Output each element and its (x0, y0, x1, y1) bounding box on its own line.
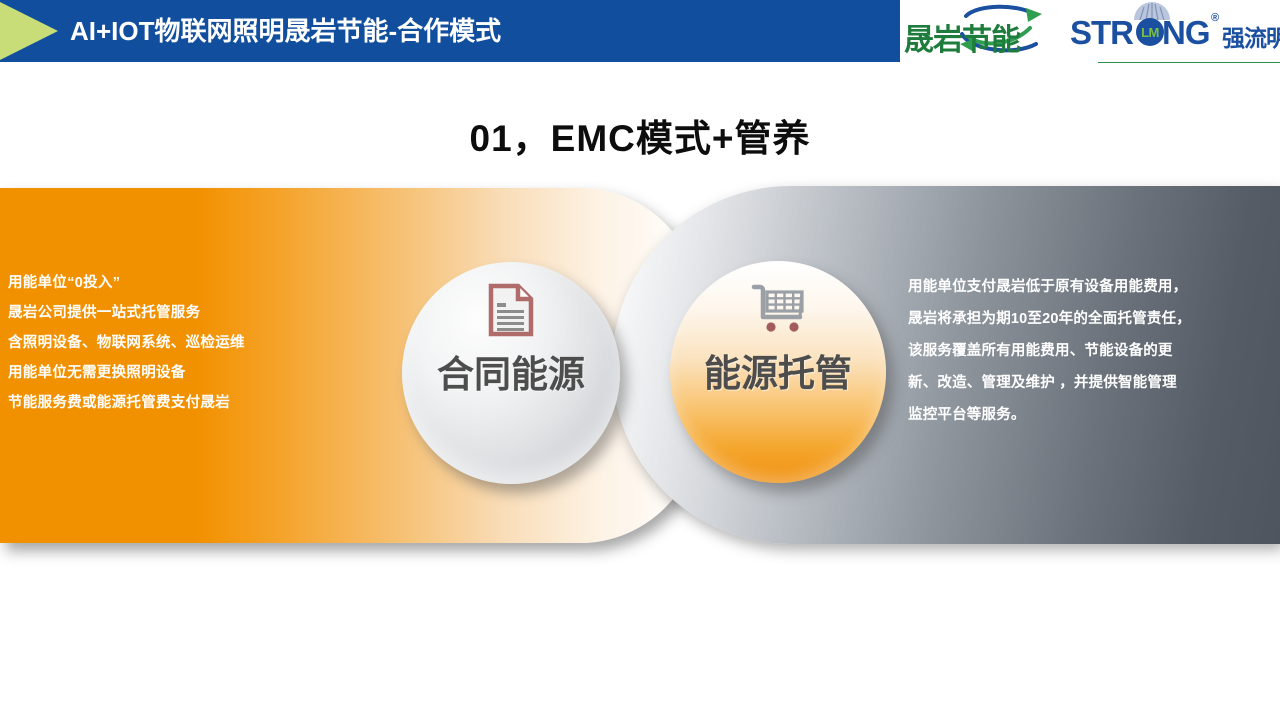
logo-strong-letters-before: STR (1070, 14, 1133, 52)
list-item: 用能单位无需更换照明设备 (8, 358, 338, 388)
logo-strong: STR NG LM ® 强流明照明 (1070, 2, 1278, 60)
chevron-right-icon (0, 0, 62, 62)
list-item: 节能服务费或能源托管费支付晟岩 (8, 388, 338, 418)
panel-right-text: 用能单位支付晟岩低于原有设备用能费用， 晟岩将承担为期10至20年的全面托管责任… (908, 271, 1270, 431)
registered-mark: ® (1211, 12, 1219, 24)
circle-contract-energy[interactable]: 合同能源 (402, 262, 620, 484)
brand-logos: 晟岩节能 STR NG LM ® 强流明照明 (900, 0, 1280, 62)
list-item: 含照明设备、物联网系统、巡检运维 (8, 328, 338, 358)
list-item: 晟岩公司提供一站式托管服务 (8, 298, 338, 328)
panel-left-text: 用能单位“0投入” 晟岩公司提供一站式托管服务 含照明设备、物联网系统、巡检运维… (8, 268, 338, 418)
header-title: AI+IOT物联网照明晟岩节能-合作模式 (70, 11, 501, 48)
list-item: 用能单位支付晟岩低于原有设备用能费用， (908, 271, 1270, 303)
list-item: 晟岩将承担为期10至20年的全面托管责任， (908, 303, 1270, 335)
logo-strong-lm-badge: LM (1136, 18, 1164, 46)
logo-strong-chinese: 强流明照明 (1222, 19, 1280, 53)
logo-shengyan-jieneng: 晟岩节能 (900, 2, 1070, 60)
list-item: 监控平台等服务。 (908, 399, 1270, 431)
list-item: 新、改造、管理及维护 ，并提供智能管理 (908, 367, 1270, 399)
circle-energy-trusteeship[interactable]: 能源托管 (670, 261, 886, 483)
slide-title: 01，EMC模式+管养 (0, 108, 1280, 162)
circle-label: 合同能源 (437, 344, 585, 398)
document-icon (488, 280, 534, 340)
circle-label: 能源托管 (704, 343, 852, 397)
logo-strong-lm-text: LM (1141, 25, 1159, 40)
shopping-cart-icon (750, 279, 806, 339)
list-item: 用能单位“0投入” (8, 268, 338, 298)
slide-header: AI+IOT物联网照明晟岩节能-合作模式 晟岩节能 STR NG LM (0, 0, 1280, 66)
logo-shengyan-text: 晟岩节能 (904, 15, 1020, 59)
list-item: 该服务覆盖所有用能费用、节能设备的更 (908, 335, 1270, 367)
